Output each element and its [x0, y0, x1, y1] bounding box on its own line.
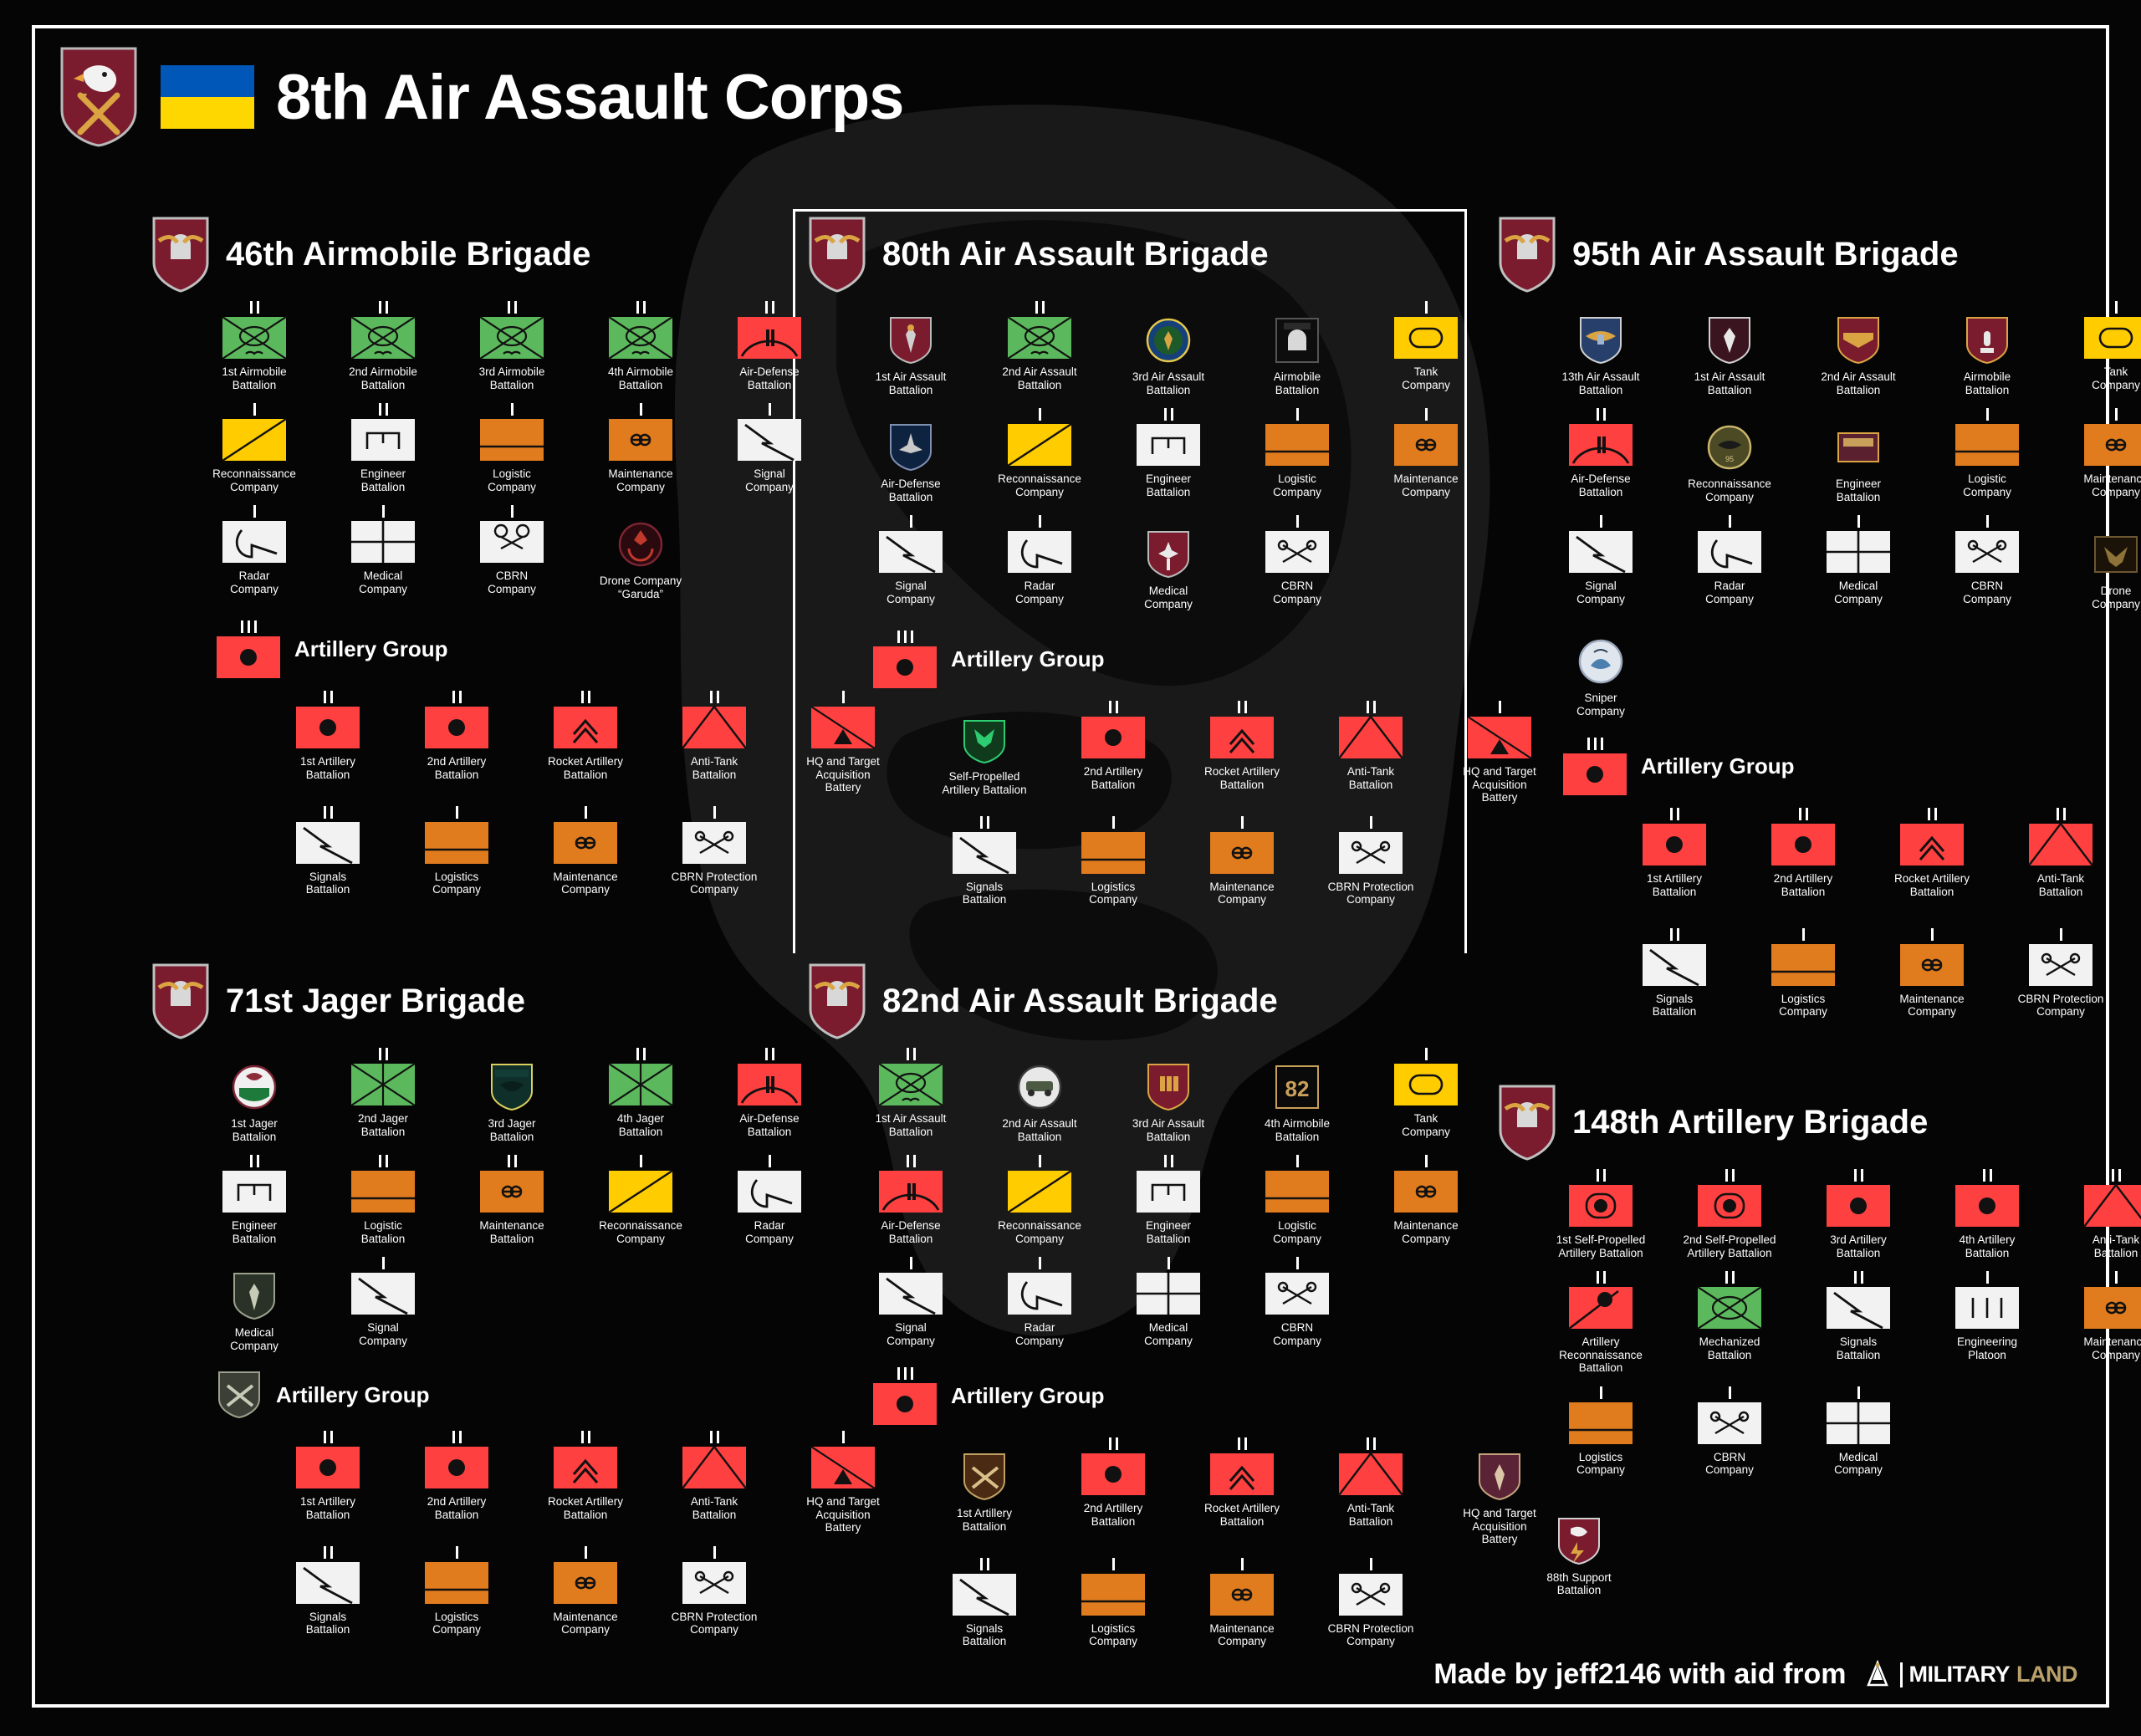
unit-node[interactable]: 1st Air AssaultBattalion — [1678, 299, 1781, 396]
unit-node[interactable]: MaintenanceCompany — [1374, 1153, 1478, 1245]
unit-patch-patch-80-3-icon — [1145, 316, 1192, 365]
logo-divider — [1900, 1662, 1903, 1687]
unit-symbol-airmobile-icon — [479, 316, 544, 360]
artillery-group-symbol-icon — [1562, 753, 1627, 796]
unit-node[interactable]: MedicalCompany — [1806, 513, 1910, 605]
unit-node[interactable]: SignalsBattalion — [933, 1556, 1036, 1648]
unit-symbol-svg — [878, 530, 943, 574]
unit-label: Anti-TankBattalion — [661, 1495, 768, 1521]
unit-node[interactable]: EngineeringPlatoon — [1935, 1269, 2039, 1361]
unit-symbol-svg — [1954, 530, 2020, 574]
unit-symbol-cbrn-x-icon — [1954, 530, 2020, 574]
unit-label: 1st ArtilleryBattalion — [1621, 872, 1728, 898]
unit-symbol-svg — [1568, 1286, 1633, 1330]
unit-node[interactable]: CBRNCompany — [1245, 513, 1349, 605]
unit-symbol-svg — [608, 1170, 673, 1213]
unit-node[interactable]: 2nd Self-PropelledArtillery Battalion — [1678, 1167, 1781, 1259]
unit-node[interactable]: CBRN ProtectionCompany — [1319, 1556, 1423, 1648]
artillery-group-header-46th[interactable]: Artillery Group — [216, 619, 895, 679]
echelon-marks — [324, 689, 333, 703]
unit-symbol-cbrn-x-icon — [1338, 831, 1403, 875]
unit-node[interactable]: 2nd ArtilleryBattalion — [1061, 1436, 1165, 1528]
unit-node[interactable]: 2nd Air AssaultBattalion — [988, 1046, 1091, 1143]
svg-text:82: 82 — [1285, 1076, 1310, 1101]
unit-node[interactable]: TankCompany — [2064, 299, 2141, 391]
unit-row: Air-DefenseBattalionReconnaissanceCompan… — [859, 1153, 1551, 1245]
unit-node[interactable]: RadarCompany — [202, 503, 306, 595]
echelon-marks — [765, 299, 774, 314]
unit-node[interactable]: MaintenanceCompany — [534, 804, 637, 896]
unit-node[interactable]: SignalCompany — [331, 1255, 435, 1347]
unit-node[interactable]: 3rd JagerBattalion — [460, 1046, 564, 1143]
echelon-marks — [1928, 806, 1937, 820]
unit-node[interactable]: Rocket ArtilleryBattalion — [1190, 1436, 1294, 1528]
poster-header: 8th Air Assault Corps — [59, 43, 903, 151]
brigade-block-95th: 95th Air Assault Brigade13th Air Assault… — [1497, 219, 2141, 1019]
unit-node[interactable]: TankCompany — [1374, 1046, 1478, 1138]
unit-symbol-svg — [222, 418, 287, 462]
echelon-marks — [382, 503, 385, 518]
unit-node[interactable]: 824th AirmobileBattalion — [1245, 1046, 1349, 1143]
unit-node[interactable]: CBRNCompany — [1935, 513, 2039, 605]
unit-label: 4th AirmobileBattalion — [587, 365, 694, 391]
unit-node[interactable]: 2nd ArtilleryBattalion — [405, 1429, 508, 1521]
brigade-header-80th[interactable]: 80th Air Assault Brigade — [807, 219, 1551, 289]
unit-symbol-radar-icon — [1007, 530, 1072, 574]
unit-label: MedicalCompany — [1805, 1451, 1912, 1477]
unit-node[interactable]: ReconnaissanceCompany — [988, 1153, 1091, 1245]
unit-label: 3rd ArtilleryBattalion — [1805, 1233, 1912, 1259]
unit-symbol-svg — [1081, 831, 1146, 875]
unit-node[interactable]: Anti-TankBattalion — [2009, 806, 2113, 898]
unit-symbol-maintenance-icon — [1393, 423, 1459, 467]
unit-label: Rocket ArtilleryBattalion — [1878, 872, 1985, 898]
unit-symbol-svg — [2028, 823, 2093, 866]
unit-label: 13th Air AssaultBattalion — [1547, 370, 1654, 396]
unit-node[interactable]: RadarCompany — [988, 1255, 1091, 1347]
unit-symbol-svg — [1007, 316, 1072, 360]
echelon-marks — [1670, 806, 1679, 820]
unit-row: 1st Air AssaultBattalion2nd Air AssaultB… — [859, 299, 1551, 396]
unit-symbol-sp-artillery-icon — [1697, 1184, 1762, 1228]
unit-row: SignalCompanyRadarCompanyMedicalCompanyC… — [859, 1255, 1551, 1347]
echelon-marks — [379, 299, 388, 314]
unit-node[interactable]: 1st ArtilleryBattalion — [276, 1429, 380, 1521]
unit-symbol-jager-icon — [608, 1063, 673, 1106]
echelon-marks — [2060, 927, 2062, 941]
unit-node[interactable]: LogisticBattalion — [331, 1153, 435, 1245]
echelon-marks — [1670, 927, 1679, 941]
unit-label: LogisticsCompany — [1060, 1622, 1167, 1648]
unit-node[interactable]: MedicalCompany — [1116, 513, 1220, 610]
unit-symbol-medical-icon — [1826, 530, 1891, 574]
echelon-marks — [511, 503, 514, 518]
echelon-marks — [452, 1429, 462, 1443]
unit-node[interactable]: 2nd JagerBattalion — [331, 1046, 435, 1138]
artillery-group-label: Artillery Group — [294, 636, 447, 662]
unit-node[interactable]: Anti-TankBattalion — [2064, 1167, 2141, 1259]
echelon-marks — [241, 619, 257, 633]
unit-node[interactable]: DroneCompany — [2064, 513, 2141, 610]
unit-symbol-artillery-icon — [1081, 716, 1146, 759]
unit-node[interactable]: CBRNCompany — [1245, 1255, 1349, 1347]
unit-label: AirmobileBattalion — [1244, 370, 1351, 396]
artillery-group-header-95th[interactable]: Artillery Group — [1562, 736, 2141, 796]
unit-label: ReconnaissanceCompany — [201, 467, 308, 493]
unit-symbol-svg — [1209, 1573, 1275, 1616]
unit-symbol-maintenance-icon — [553, 1561, 618, 1605]
unit-label: 2nd Self-PropelledArtillery Battalion — [1676, 1233, 1783, 1259]
unit-node[interactable]: MedicalCompany — [1116, 1255, 1220, 1347]
unit-label: MedicalCompany — [201, 1326, 308, 1352]
unit-node[interactable]: MechanizedBattalion — [1678, 1269, 1781, 1361]
unit-node[interactable]: 2nd AirmobileBattalion — [331, 299, 435, 391]
unit-symbol-maintenance-icon — [479, 1170, 544, 1213]
unit-symbol-logistic-icon — [1081, 831, 1146, 875]
brigade-rows-82nd: 1st Air AssaultBattalion2nd Air AssaultB… — [859, 1046, 1551, 1347]
echelon-marks — [456, 804, 458, 819]
unit-label: TankCompany — [1372, 1112, 1479, 1138]
unit-label: Anti-TankBattalion — [1317, 765, 1424, 791]
unit-symbol-svg — [608, 316, 673, 360]
unit-node[interactable]: LogisticsCompany — [405, 804, 508, 896]
unit-symbol-svg — [553, 1561, 618, 1605]
unit-label: MedicalCompany — [1805, 580, 1912, 605]
unit-node[interactable]: EngineerBattalion — [202, 1153, 306, 1245]
unit-node[interactable]: AirmobileBattalion — [1935, 299, 2039, 396]
unit-symbol-svg — [1642, 943, 1707, 987]
unit-node[interactable]: CBRN ProtectionCompany — [2009, 927, 2113, 1019]
unit-node[interactable]: MedicalCompany — [331, 503, 435, 595]
unit-label: SignalCompany — [857, 580, 964, 605]
unit-node[interactable]: SignalsBattalion — [276, 804, 380, 896]
unit-node[interactable]: 1st AirmobileBattalion — [202, 299, 306, 391]
unit-symbol-svg — [553, 706, 618, 749]
unit-label: AirmobileBattalion — [1934, 370, 2041, 396]
brigade-rows-71st: 1st JagerBattalion2nd JagerBattalion3rd … — [202, 1046, 895, 1352]
unit-label: MaintenanceCompany — [1188, 881, 1295, 906]
unit-label: Anti-TankBattalion — [2007, 872, 2114, 898]
unit-symbol-svg — [1697, 1402, 1762, 1445]
unit-symbol-maintenance-icon — [608, 418, 673, 462]
unit-patch-patch-71-med-icon — [231, 1272, 278, 1320]
unit-symbol-svg — [553, 1446, 618, 1489]
unit-node[interactable]: MaintenanceCompany — [2064, 406, 2141, 498]
unit-node[interactable]: LogisticCompany — [460, 401, 564, 493]
unit-symbol-svg — [1007, 1170, 1072, 1213]
unit-node[interactable]: RadarCompany — [1678, 513, 1781, 605]
brigade-block-80th: 80th Air Assault Brigade1st Air AssaultB… — [807, 219, 1551, 906]
unit-node[interactable]: AirmobileBattalion — [1245, 299, 1349, 396]
echelon-marks — [1112, 1556, 1115, 1570]
unit-node[interactable]: MedicalCompany — [202, 1255, 306, 1352]
unit-symbol-svg — [2028, 943, 2093, 987]
unit-node[interactable]: 3rd ArtilleryBattalion — [1806, 1167, 1910, 1259]
brigade-header-46th[interactable]: 46th Airmobile Brigade — [151, 219, 895, 289]
unit-node[interactable]: SignalsBattalion — [276, 1545, 380, 1636]
unit-symbol-svg — [608, 1063, 673, 1106]
unit-node[interactable]: MedicalCompany — [1806, 1385, 1910, 1477]
echelon-marks — [636, 299, 646, 314]
unit-label: 2nd JagerBattalion — [330, 1112, 437, 1138]
unit-symbol-svg — [2083, 423, 2141, 467]
echelon-marks — [1425, 406, 1428, 421]
unit-node[interactable]: CBRNCompany — [460, 503, 564, 595]
unit-symbol-svg — [350, 1170, 416, 1213]
unit-node[interactable]: 1st ArtilleryBattalion — [276, 689, 380, 781]
unit-label: Air-DefenseBattalion — [857, 477, 964, 503]
unit-node[interactable]: 1st JagerBattalion — [202, 1046, 306, 1143]
unit-label: CBRN ProtectionCompany — [661, 871, 768, 896]
unit-patch-patch-82-arty-icon — [961, 1453, 1008, 1501]
unit-node[interactable]: SignalsBattalion — [1806, 1269, 1910, 1361]
unit-node[interactable]: EngineerBattalion — [1116, 406, 1220, 498]
unit-symbol-signal-icon — [295, 1561, 360, 1605]
echelon-marks — [1296, 406, 1299, 421]
unit-label: Anti-TankBattalion — [1317, 1502, 1424, 1528]
unit-symbol-signal-icon — [878, 530, 943, 574]
unit-node[interactable]: LogisticsCompany — [1549, 1385, 1653, 1477]
brigade-header-71st[interactable]: 71st Jager Brigade — [151, 966, 895, 1036]
artillery-group-rows-46th: 1st ArtilleryBattalion2nd ArtilleryBatta… — [276, 689, 895, 896]
unit-label: LogisticCompany — [1244, 1219, 1351, 1245]
support-unit-block[interactable]: 88th SupportBattalion — [1527, 1500, 2141, 1597]
unit-node[interactable]: Air-DefenseBattalion — [718, 1046, 821, 1138]
unit-node[interactable]: 2nd ArtilleryBattalion — [1751, 806, 1855, 898]
echelon-marks — [1367, 1436, 1376, 1450]
unit-node[interactable]: ArtilleryReconnaissanceBattalion — [1549, 1269, 1653, 1375]
unit-patch-patch-legion-icon — [1274, 316, 1321, 365]
echelon-marks — [1425, 299, 1428, 314]
brigade-block-82nd: 82nd Air Assault Brigade1st Air AssaultB… — [807, 966, 1551, 1648]
unit-label: SignalsBattalion — [1805, 1335, 1912, 1361]
unit-node[interactable]: 2nd ArtilleryBattalion — [1061, 699, 1165, 791]
unit-node[interactable]: EngineerBattalion — [331, 401, 435, 493]
unit-symbol-svg — [1954, 423, 2020, 467]
unit-node[interactable]: SignalCompany — [859, 1255, 963, 1347]
unit-node[interactable]: 13th Air AssaultBattalion — [1549, 299, 1653, 396]
unit-node[interactable]: SignalCompany — [1549, 513, 1653, 605]
unit-label: SignalsBattalion — [931, 881, 1038, 906]
unit-node[interactable]: ReconnaissanceCompany — [202, 401, 306, 493]
unit-symbol-medical-icon — [350, 520, 416, 564]
unit-symbol-svg — [350, 316, 416, 360]
unit-symbol-svg — [553, 821, 618, 865]
unit-node[interactable]: LogisticCompany — [1245, 406, 1349, 498]
unit-node[interactable]: LogisticsCompany — [405, 1545, 508, 1636]
unit-node[interactable]: MaintenanceCompany — [2064, 1269, 2141, 1361]
unit-label: 1st ArtilleryBattalion — [274, 755, 381, 781]
unit-node[interactable]: HQ and TargetAcquisitionBattery — [2138, 806, 2141, 917]
unit-symbol-svg — [878, 1272, 943, 1315]
unit-node[interactable]: EngineerBattalion — [1116, 1153, 1220, 1245]
unit-node[interactable]: Self-PropelledArtillery Battalion — [933, 699, 1036, 796]
unit-symbol-svg — [878, 1063, 943, 1106]
unit-node[interactable]: LogisticCompany — [1935, 406, 2039, 498]
unit-label: 2nd ArtilleryBattalion — [1060, 1502, 1167, 1528]
brigade-patch-griffin-icon — [807, 216, 867, 293]
unit-node[interactable]: LogisticsCompany — [1751, 927, 1855, 1019]
artillery-group-header-80th[interactable]: Artillery Group — [872, 629, 1551, 689]
unit-node[interactable]: CBRN ProtectionCompany — [1319, 814, 1423, 906]
unit-symbol-airmobile-icon — [350, 316, 416, 360]
unit-symbol-svg — [682, 1446, 747, 1489]
unit-node[interactable]: MaintenanceCompany — [589, 401, 692, 493]
unit-node[interactable]: 2nd Air AssaultBattalion — [1806, 299, 1910, 396]
echelon-marks — [1597, 406, 1606, 421]
unit-label: LogisticsCompany — [403, 1611, 510, 1636]
unit-label: EngineerBattalion — [1115, 1219, 1222, 1245]
unit-symbol-svg — [682, 706, 747, 749]
unit-node[interactable]: MaintenanceCompany — [534, 1545, 637, 1636]
unit-node[interactable]: SignalsBattalion — [1622, 927, 1726, 1019]
unit-symbol-svg — [1007, 1272, 1072, 1315]
artillery-group-header-82nd[interactable]: Artillery Group — [872, 1366, 1551, 1426]
echelon-marks — [713, 804, 716, 819]
unit-node[interactable]: 3rd Air AssaultBattalion — [1116, 1046, 1220, 1143]
unit-node[interactable]: RadarCompany — [718, 1153, 821, 1245]
artillery-group-header-71st[interactable]: Artillery Group — [216, 1371, 895, 1419]
unit-node[interactable]: Anti-TankBattalion — [1319, 699, 1423, 791]
unit-node[interactable]: 1st Self-PropelledArtillery Battalion — [1549, 1167, 1653, 1259]
unit-node[interactable]: 2nd ArtilleryBattalion — [405, 689, 508, 781]
unit-node[interactable]: MaintenanceCompany — [1880, 927, 1984, 1019]
unit-label: CBRNCompany — [1934, 580, 2041, 605]
unit-node[interactable]: Rocket ArtilleryBattalion — [534, 1429, 637, 1521]
unit-node[interactable]: Rocket ArtilleryBattalion — [1880, 806, 1984, 898]
unit-node[interactable]: 1st ArtilleryBattalion — [933, 1436, 1036, 1533]
unit-node[interactable]: 88th SupportBattalion — [1527, 1500, 1631, 1597]
unit-node[interactable]: MaintenanceBattalion — [460, 1153, 564, 1245]
unit-node[interactable]: 4th AirmobileBattalion — [589, 299, 692, 391]
unit-label: 2nd Air AssaultBattalion — [986, 365, 1093, 391]
unit-symbol-svg — [295, 1446, 360, 1489]
unit-node[interactable]: MaintenanceCompany — [1374, 406, 1478, 498]
unit-node[interactable]: Anti-TankBattalion — [662, 1429, 766, 1521]
unit-row: SignalsBattalionLogisticsCompanyMaintena… — [276, 1545, 895, 1636]
unit-symbol-maintenance-icon — [553, 821, 618, 865]
unit-node[interactable]: 4th ArtilleryBattalion — [1935, 1167, 2039, 1259]
unit-symbol-cbrn-x-icon — [1338, 1573, 1403, 1616]
unit-symbol-svg — [952, 1573, 1017, 1616]
echelon-marks — [1857, 513, 1860, 528]
unit-symbol-cbrn-x-icon — [2028, 943, 2093, 987]
corps-insignia-patch — [59, 45, 139, 149]
unit-node[interactable]: EngineerBattalion — [1806, 406, 1910, 503]
unit-symbol-radar-icon — [222, 520, 287, 564]
unit-node[interactable]: CBRN ProtectionCompany — [662, 804, 766, 896]
unit-node[interactable]: Anti-TankBattalion — [662, 689, 766, 781]
unit-node[interactable]: LogisticsCompany — [1061, 1556, 1165, 1648]
unit-label: ReconnaissanceCompany — [986, 1219, 1093, 1245]
echelon-marks — [1725, 1167, 1735, 1182]
echelon-marks — [1039, 1255, 1041, 1269]
unit-symbol-maintenance-icon — [1209, 1573, 1275, 1616]
unit-node[interactable]: ReconnaissanceCompany — [589, 1153, 692, 1245]
unit-node[interactable]: LogisticsCompany — [1061, 814, 1165, 906]
unit-symbol-logistic-icon — [350, 1170, 416, 1213]
echelon-marks — [1931, 927, 1934, 941]
unit-label: LogisticBattalion — [330, 1219, 437, 1245]
unit-symbol-maintenance-icon — [1393, 1170, 1459, 1213]
echelon-marks — [1425, 1046, 1428, 1060]
echelon-marks — [2115, 1269, 2118, 1284]
unit-label: Air-DefenseBattalion — [857, 1219, 964, 1245]
unit-patch-patch-80-1-icon — [887, 316, 934, 365]
unit-node[interactable]: Air-DefenseBattalion — [718, 299, 821, 391]
unit-node[interactable]: SignalCompany — [859, 513, 963, 605]
brigade-header-82nd[interactable]: 82nd Air Assault Brigade — [807, 966, 1551, 1036]
artillery-group-symbol-icon — [872, 1382, 938, 1426]
unit-symbol-svg — [1826, 530, 1891, 574]
unit-node[interactable]: ReconnaissanceCompany — [988, 406, 1091, 498]
unit-node[interactable]: SignalsBattalion — [933, 814, 1036, 906]
unit-symbol-sp-artillery-icon — [1568, 1184, 1633, 1228]
echelon-marks — [910, 513, 912, 528]
unit-node[interactable]: SignalCompany — [718, 401, 821, 493]
unit-node[interactable]: Anti-TankBattalion — [1319, 1436, 1423, 1528]
echelon-marks — [910, 1255, 912, 1269]
unit-row: 1st ArtilleryBattalion2nd ArtilleryBatta… — [933, 1436, 1551, 1546]
unit-symbol-svg — [222, 1170, 287, 1213]
unit-node[interactable]: 4th JagerBattalion — [589, 1046, 692, 1138]
artillery-group-label: Artillery Group — [951, 1383, 1104, 1409]
unit-node[interactable]: CBRN ProtectionCompany — [662, 1545, 766, 1636]
unit-node[interactable]: SniperCompany — [1549, 620, 1653, 717]
unit-label: 1st Air AssaultBattalion — [857, 370, 964, 396]
unit-symbol-svg — [1265, 1170, 1330, 1213]
unit-symbol-svg — [1954, 1184, 2020, 1228]
unit-node[interactable]: 3rd AirmobileBattalion — [460, 299, 564, 391]
unit-symbol-jager-icon — [350, 1063, 416, 1106]
unit-node[interactable]: Drone Company“Garuda” — [589, 503, 692, 600]
unit-node[interactable]: Air-DefenseBattalion — [859, 1153, 963, 1245]
unit-node[interactable]: MaintenanceCompany — [1190, 1556, 1294, 1648]
unit-node[interactable]: 3rd Air AssaultBattalion — [1116, 299, 1220, 396]
unit-node[interactable]: RadarCompany — [988, 513, 1091, 605]
brigade-header-95th[interactable]: 95th Air Assault Brigade — [1497, 219, 2141, 289]
unit-node[interactable]: 1st ArtilleryBattalion — [1622, 806, 1726, 898]
unit-symbol-medical-icon — [1136, 1272, 1201, 1315]
page-title: 8th Air Assault Corps — [276, 61, 903, 134]
unit-label: LogisticsCompany — [1547, 1451, 1654, 1477]
unit-node[interactable]: Air-DefenseBattalion — [859, 406, 963, 503]
unit-node[interactable]: 1st Air AssaultBattalion — [859, 1046, 963, 1138]
unit-symbol-svg — [1136, 1170, 1201, 1213]
unit-node[interactable]: TankCompany — [1374, 299, 1478, 391]
unit-symbol-svg — [952, 831, 1017, 875]
unit-node[interactable]: Air-DefenseBattalion — [1549, 406, 1653, 498]
unit-symbol-signal-icon — [952, 1573, 1017, 1616]
unit-symbol-svg — [1568, 1402, 1633, 1445]
unit-node[interactable]: 2nd Air AssaultBattalion — [988, 299, 1091, 391]
unit-node[interactable]: CBRNCompany — [1678, 1385, 1781, 1477]
unit-symbol-maintenance-icon — [2083, 423, 2141, 467]
unit-label: SignalCompany — [330, 1321, 437, 1347]
unit-row: MedicalCompanySignalCompany — [202, 1255, 895, 1352]
unit-node[interactable]: Rocket ArtilleryBattalion — [534, 689, 637, 781]
unit-patch-patch-80-med-icon — [1145, 530, 1192, 579]
brigade-header-148th[interactable]: 148th Artillery Brigade — [1497, 1087, 2141, 1157]
unit-node[interactable]: LogisticCompany — [1245, 1153, 1349, 1245]
echelon-marks — [1035, 299, 1045, 314]
unit-node[interactable]: 1st Air AssaultBattalion — [859, 299, 963, 396]
unit-node[interactable]: Rocket ArtilleryBattalion — [1190, 699, 1294, 791]
echelon-marks — [897, 629, 913, 643]
unit-symbol-svg — [1771, 823, 1836, 866]
unit-node[interactable]: MaintenanceCompany — [1190, 814, 1294, 906]
unit-node[interactable]: 95ReconnaissanceCompany — [1678, 406, 1781, 503]
